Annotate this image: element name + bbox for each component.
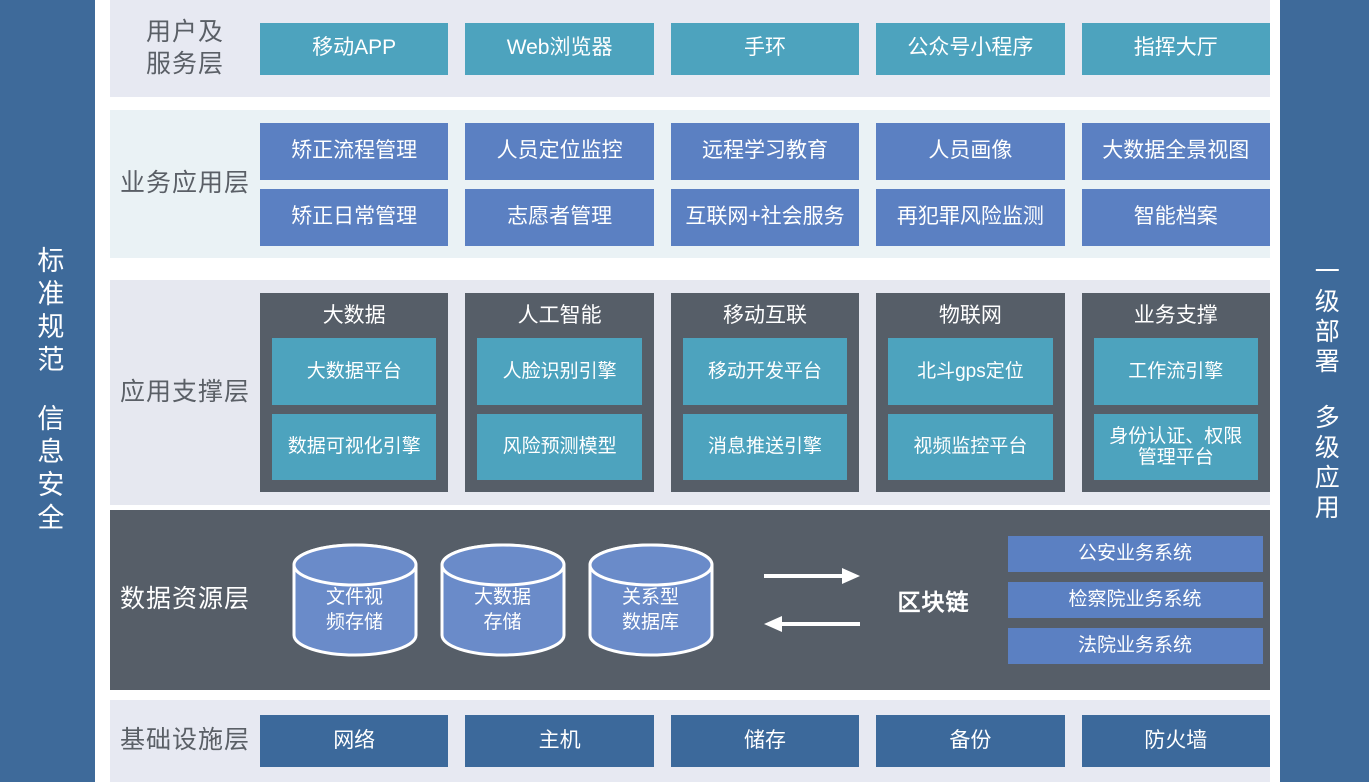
chip-court-system[interactable]: 法院业务系统 <box>1008 628 1263 664</box>
card-item-beidou-gps-positioning[interactable]: 北斗gps定位 <box>888 338 1052 404</box>
chip-official-account-miniprogram[interactable]: 公众号小程序 <box>876 23 1064 75</box>
chip-remote-learning-education[interactable]: 远程学习教育 <box>671 123 859 180</box>
card-artificial-intelligence[interactable]: 人工智能 人脸识别引擎 风险预测模型 <box>465 293 653 492</box>
card-title-mobile-internet: 移动互联 <box>683 303 847 328</box>
layer-title-user-service: 用户及 服务层 <box>110 17 260 80</box>
layer-application-support: 应用支撑层 大数据 大数据平台 数据可视化引擎 人工智能 人脸识别引擎 风险预测… <box>110 280 1270 505</box>
card-big-data[interactable]: 大数据 大数据平台 数据可视化引擎 <box>260 293 448 492</box>
chip-volunteer-mgmt[interactable]: 志愿者管理 <box>465 189 653 246</box>
card-item-mobile-dev-platform[interactable]: 移动开发平台 <box>683 338 847 404</box>
chip-firewall[interactable]: 防火墙 <box>1082 715 1270 767</box>
chip-recidivism-risk-monitor[interactable]: 再犯罪风险监测 <box>876 189 1064 246</box>
chip-bigdata-panorama-view[interactable]: 大数据全景视图 <box>1082 123 1270 180</box>
card-iot[interactable]: 物联网 北斗gps定位 视频监控平台 <box>876 293 1064 492</box>
chip-personnel-location-monitor[interactable]: 人员定位监控 <box>465 123 653 180</box>
cylinder-label-relational-database: 关系型 数据库 <box>586 571 716 651</box>
layer-business-application: 业务应用层 矫正流程管理 人员定位监控 远程学习教育 人员画像 大数据全景视图 … <box>110 110 1270 258</box>
layer-title-application-support: 应用支撑层 <box>110 377 260 408</box>
card-item-identity-auth-permission-platform[interactable]: 身份认证、权限 管理平台 <box>1094 414 1258 480</box>
cylinder-relational-database[interactable]: 关系型 数据库 <box>586 541 716 659</box>
chip-host[interactable]: 主机 <box>465 715 653 767</box>
cylinder-file-video-storage[interactable]: 文件视 频存储 <box>290 541 420 659</box>
right-rail: 一级部署 多级应用 <box>1280 0 1369 782</box>
card-item-risk-prediction-model[interactable]: 风险预测模型 <box>477 414 641 480</box>
chip-backup[interactable]: 备份 <box>876 715 1064 767</box>
layer-title-infrastructure: 基础设施层 <box>110 725 260 756</box>
cylinder-big-data-storage[interactable]: 大数据 存储 <box>438 541 568 659</box>
card-item-video-surveillance-platform[interactable]: 视频监控平台 <box>888 414 1052 480</box>
card-item-face-recognition-engine[interactable]: 人脸识别引擎 <box>477 338 641 404</box>
architecture-diagram: 标准规范 信息安全 一级部署 多级应用 用户及 服务层 移动APP Web浏览器… <box>0 0 1369 782</box>
card-title-artificial-intelligence: 人工智能 <box>477 303 641 328</box>
card-items-iot: 北斗gps定位 视频监控平台 <box>888 338 1052 480</box>
arrow-right-icon <box>764 566 860 586</box>
card-items-big-data: 大数据平台 数据可视化引擎 <box>272 338 436 480</box>
card-item-workflow-engine[interactable]: 工作流引擎 <box>1094 338 1258 404</box>
layer-body-data-resource: 文件视 频存储 大数据 存储 关系型 数据库 <box>260 510 1270 690</box>
blockchain-label: 区块链 <box>898 583 970 617</box>
card-items-mobile-internet: 移动开发平台 消息推送引擎 <box>683 338 847 480</box>
layer-body-infrastructure: 网络 主机 储存 备份 防火墙 <box>260 700 1270 782</box>
card-title-iot: 物联网 <box>888 303 1052 328</box>
layer-title-data-resource: 数据资源层 <box>110 584 260 615</box>
chip-wristband[interactable]: 手环 <box>671 23 859 75</box>
layer-user-service: 用户及 服务层 移动APP Web浏览器 手环 公众号小程序 指挥大厅 <box>110 0 1270 97</box>
chip-storage[interactable]: 储存 <box>671 715 859 767</box>
user-service-row: 移动APP Web浏览器 手环 公众号小程序 指挥大厅 <box>260 23 1270 75</box>
chip-procuratorate-system[interactable]: 检察院业务系统 <box>1008 582 1263 618</box>
external-systems-group: 公安业务系统 检察院业务系统 法院业务系统 <box>1008 536 1263 664</box>
cylinder-group: 文件视 频存储 大数据 存储 关系型 数据库 <box>290 541 716 659</box>
right-rail-line-2: 多级应用 <box>1311 404 1339 524</box>
layer-title-business-application: 业务应用层 <box>110 168 260 199</box>
card-item-data-visualization-engine[interactable]: 数据可视化引擎 <box>272 414 436 480</box>
card-mobile-internet[interactable]: 移动互联 移动开发平台 消息推送引擎 <box>671 293 859 492</box>
cylinder-label-file-video-storage: 文件视 频存储 <box>290 571 420 651</box>
left-rail-line-2: 信息安全 <box>33 404 63 536</box>
exchange-arrows <box>764 566 860 634</box>
chip-internet-plus-social-service[interactable]: 互联网+社会服务 <box>671 189 859 246</box>
application-support-card-row: 大数据 大数据平台 数据可视化引擎 人工智能 人脸识别引擎 风险预测模型 移动互… <box>260 293 1270 492</box>
card-items-artificial-intelligence: 人脸识别引擎 风险预测模型 <box>477 338 641 480</box>
layer-data-resource: 数据资源层 文件视 频存储 大数据 存储 <box>110 510 1270 690</box>
left-rail-line-1: 标准规范 <box>33 246 63 378</box>
card-item-message-push-engine[interactable]: 消息推送引擎 <box>683 414 847 480</box>
chip-web-browser[interactable]: Web浏览器 <box>465 23 653 75</box>
card-title-big-data: 大数据 <box>272 303 436 328</box>
chip-mobile-app[interactable]: 移动APP <box>260 23 448 75</box>
chip-correction-daily-mgmt[interactable]: 矫正日常管理 <box>260 189 448 246</box>
chip-correction-process-mgmt[interactable]: 矫正流程管理 <box>260 123 448 180</box>
chip-network[interactable]: 网络 <box>260 715 448 767</box>
card-item-bigdata-platform[interactable]: 大数据平台 <box>272 338 436 404</box>
right-rail-line-1: 一级部署 <box>1311 258 1339 378</box>
layer-infrastructure: 基础设施层 网络 主机 储存 备份 防火墙 <box>110 700 1270 782</box>
infrastructure-row: 网络 主机 储存 备份 防火墙 <box>260 715 1270 767</box>
card-title-business-support: 业务支撑 <box>1094 303 1258 328</box>
cylinder-label-big-data-storage: 大数据 存储 <box>438 571 568 651</box>
card-items-business-support: 工作流引擎 身份认证、权限 管理平台 <box>1094 338 1258 480</box>
chip-public-security-system[interactable]: 公安业务系统 <box>1008 536 1263 572</box>
business-application-row-2: 矫正日常管理 志愿者管理 互联网+社会服务 再犯罪风险监测 智能档案 <box>260 189 1270 246</box>
layer-body-user-service: 移动APP Web浏览器 手环 公众号小程序 指挥大厅 <box>260 0 1270 97</box>
chip-personnel-profile[interactable]: 人员画像 <box>876 123 1064 180</box>
card-business-support[interactable]: 业务支撑 工作流引擎 身份认证、权限 管理平台 <box>1082 293 1270 492</box>
layer-body-business-application: 矫正流程管理 人员定位监控 远程学习教育 人员画像 大数据全景视图 矫正日常管理… <box>260 110 1270 258</box>
arrow-left-icon <box>764 614 860 634</box>
business-application-row-1: 矫正流程管理 人员定位监控 远程学习教育 人员画像 大数据全景视图 <box>260 123 1270 180</box>
layer-body-application-support: 大数据 大数据平台 数据可视化引擎 人工智能 人脸识别引擎 风险预测模型 移动互… <box>260 280 1270 505</box>
left-rail: 标准规范 信息安全 <box>0 0 95 782</box>
chip-smart-archive[interactable]: 智能档案 <box>1082 189 1270 246</box>
chip-command-hall[interactable]: 指挥大厅 <box>1082 23 1270 75</box>
